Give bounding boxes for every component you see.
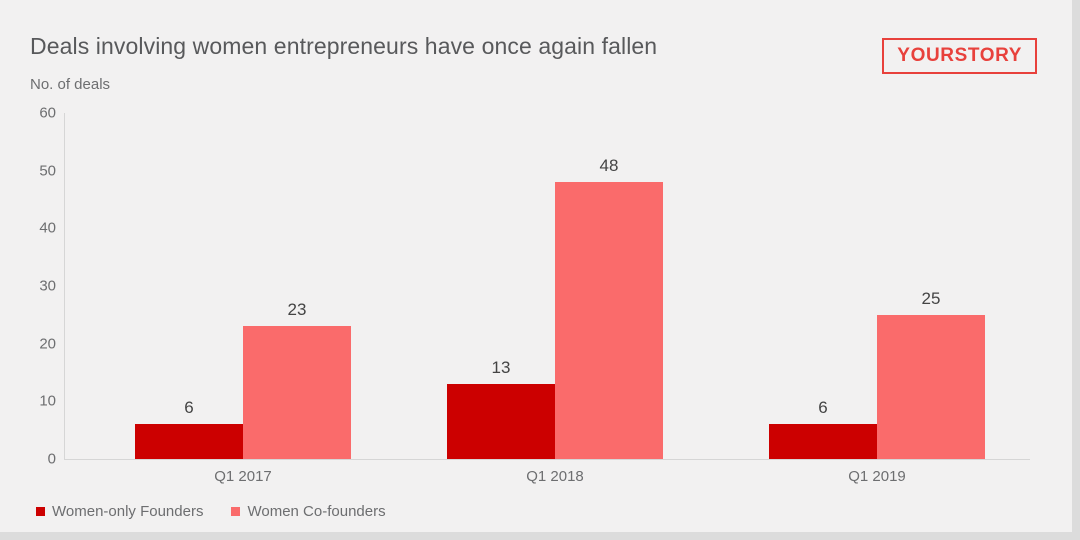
bar-value-label: 13 — [447, 358, 555, 384]
bar-value-label: 48 — [555, 156, 663, 182]
x-tick-label: Q1 2017 — [163, 468, 323, 485]
legend-label: Women Co-founders — [247, 503, 385, 520]
bar-value-label: 6 — [135, 398, 243, 424]
x-axis-line — [64, 459, 1030, 460]
legend-swatch-icon — [231, 507, 240, 516]
screenshot-frame: Deals involving women entrepreneurs have… — [0, 0, 1080, 540]
chart-legend: Women-only FoundersWomen Co-founders — [36, 503, 386, 520]
bar-value-label: 25 — [877, 289, 985, 315]
bar[interactable]: 6 — [769, 424, 877, 459]
y-tick-label: 30 — [12, 278, 56, 295]
x-tick-label: Q1 2018 — [475, 468, 635, 485]
bar-group: 623 — [135, 113, 351, 459]
bar[interactable]: 6 — [135, 424, 243, 459]
legend-item[interactable]: Women Co-founders — [231, 503, 385, 520]
bar[interactable]: 25 — [877, 315, 985, 459]
bar-value-label: 23 — [243, 300, 351, 326]
x-tick-label: Q1 2019 — [797, 468, 957, 485]
bar-group: 625 — [769, 113, 985, 459]
bar[interactable]: 13 — [447, 384, 555, 459]
bar[interactable]: 48 — [555, 182, 663, 459]
bar-group: 1348 — [447, 113, 663, 459]
chart-card: Deals involving women entrepreneurs have… — [0, 0, 1072, 532]
y-tick-label: 40 — [12, 220, 56, 237]
bar[interactable]: 23 — [243, 326, 351, 459]
y-tick-label: 10 — [12, 393, 56, 410]
bar-chart: 6050403020100 6231348625 Q1 2017Q1 2018Q… — [0, 0, 1072, 532]
y-tick-label: 50 — [12, 162, 56, 179]
y-tick-label: 60 — [12, 105, 56, 122]
y-tick-label: 20 — [12, 335, 56, 352]
bar-value-label: 6 — [769, 398, 877, 424]
y-axis-ticks: 6050403020100 — [0, 0, 56, 532]
y-tick-label: 0 — [12, 451, 56, 468]
bars-layer: 6231348625 — [65, 113, 1030, 459]
legend-label: Women-only Founders — [52, 503, 203, 520]
legend-item[interactable]: Women-only Founders — [36, 503, 203, 520]
legend-swatch-icon — [36, 507, 45, 516]
